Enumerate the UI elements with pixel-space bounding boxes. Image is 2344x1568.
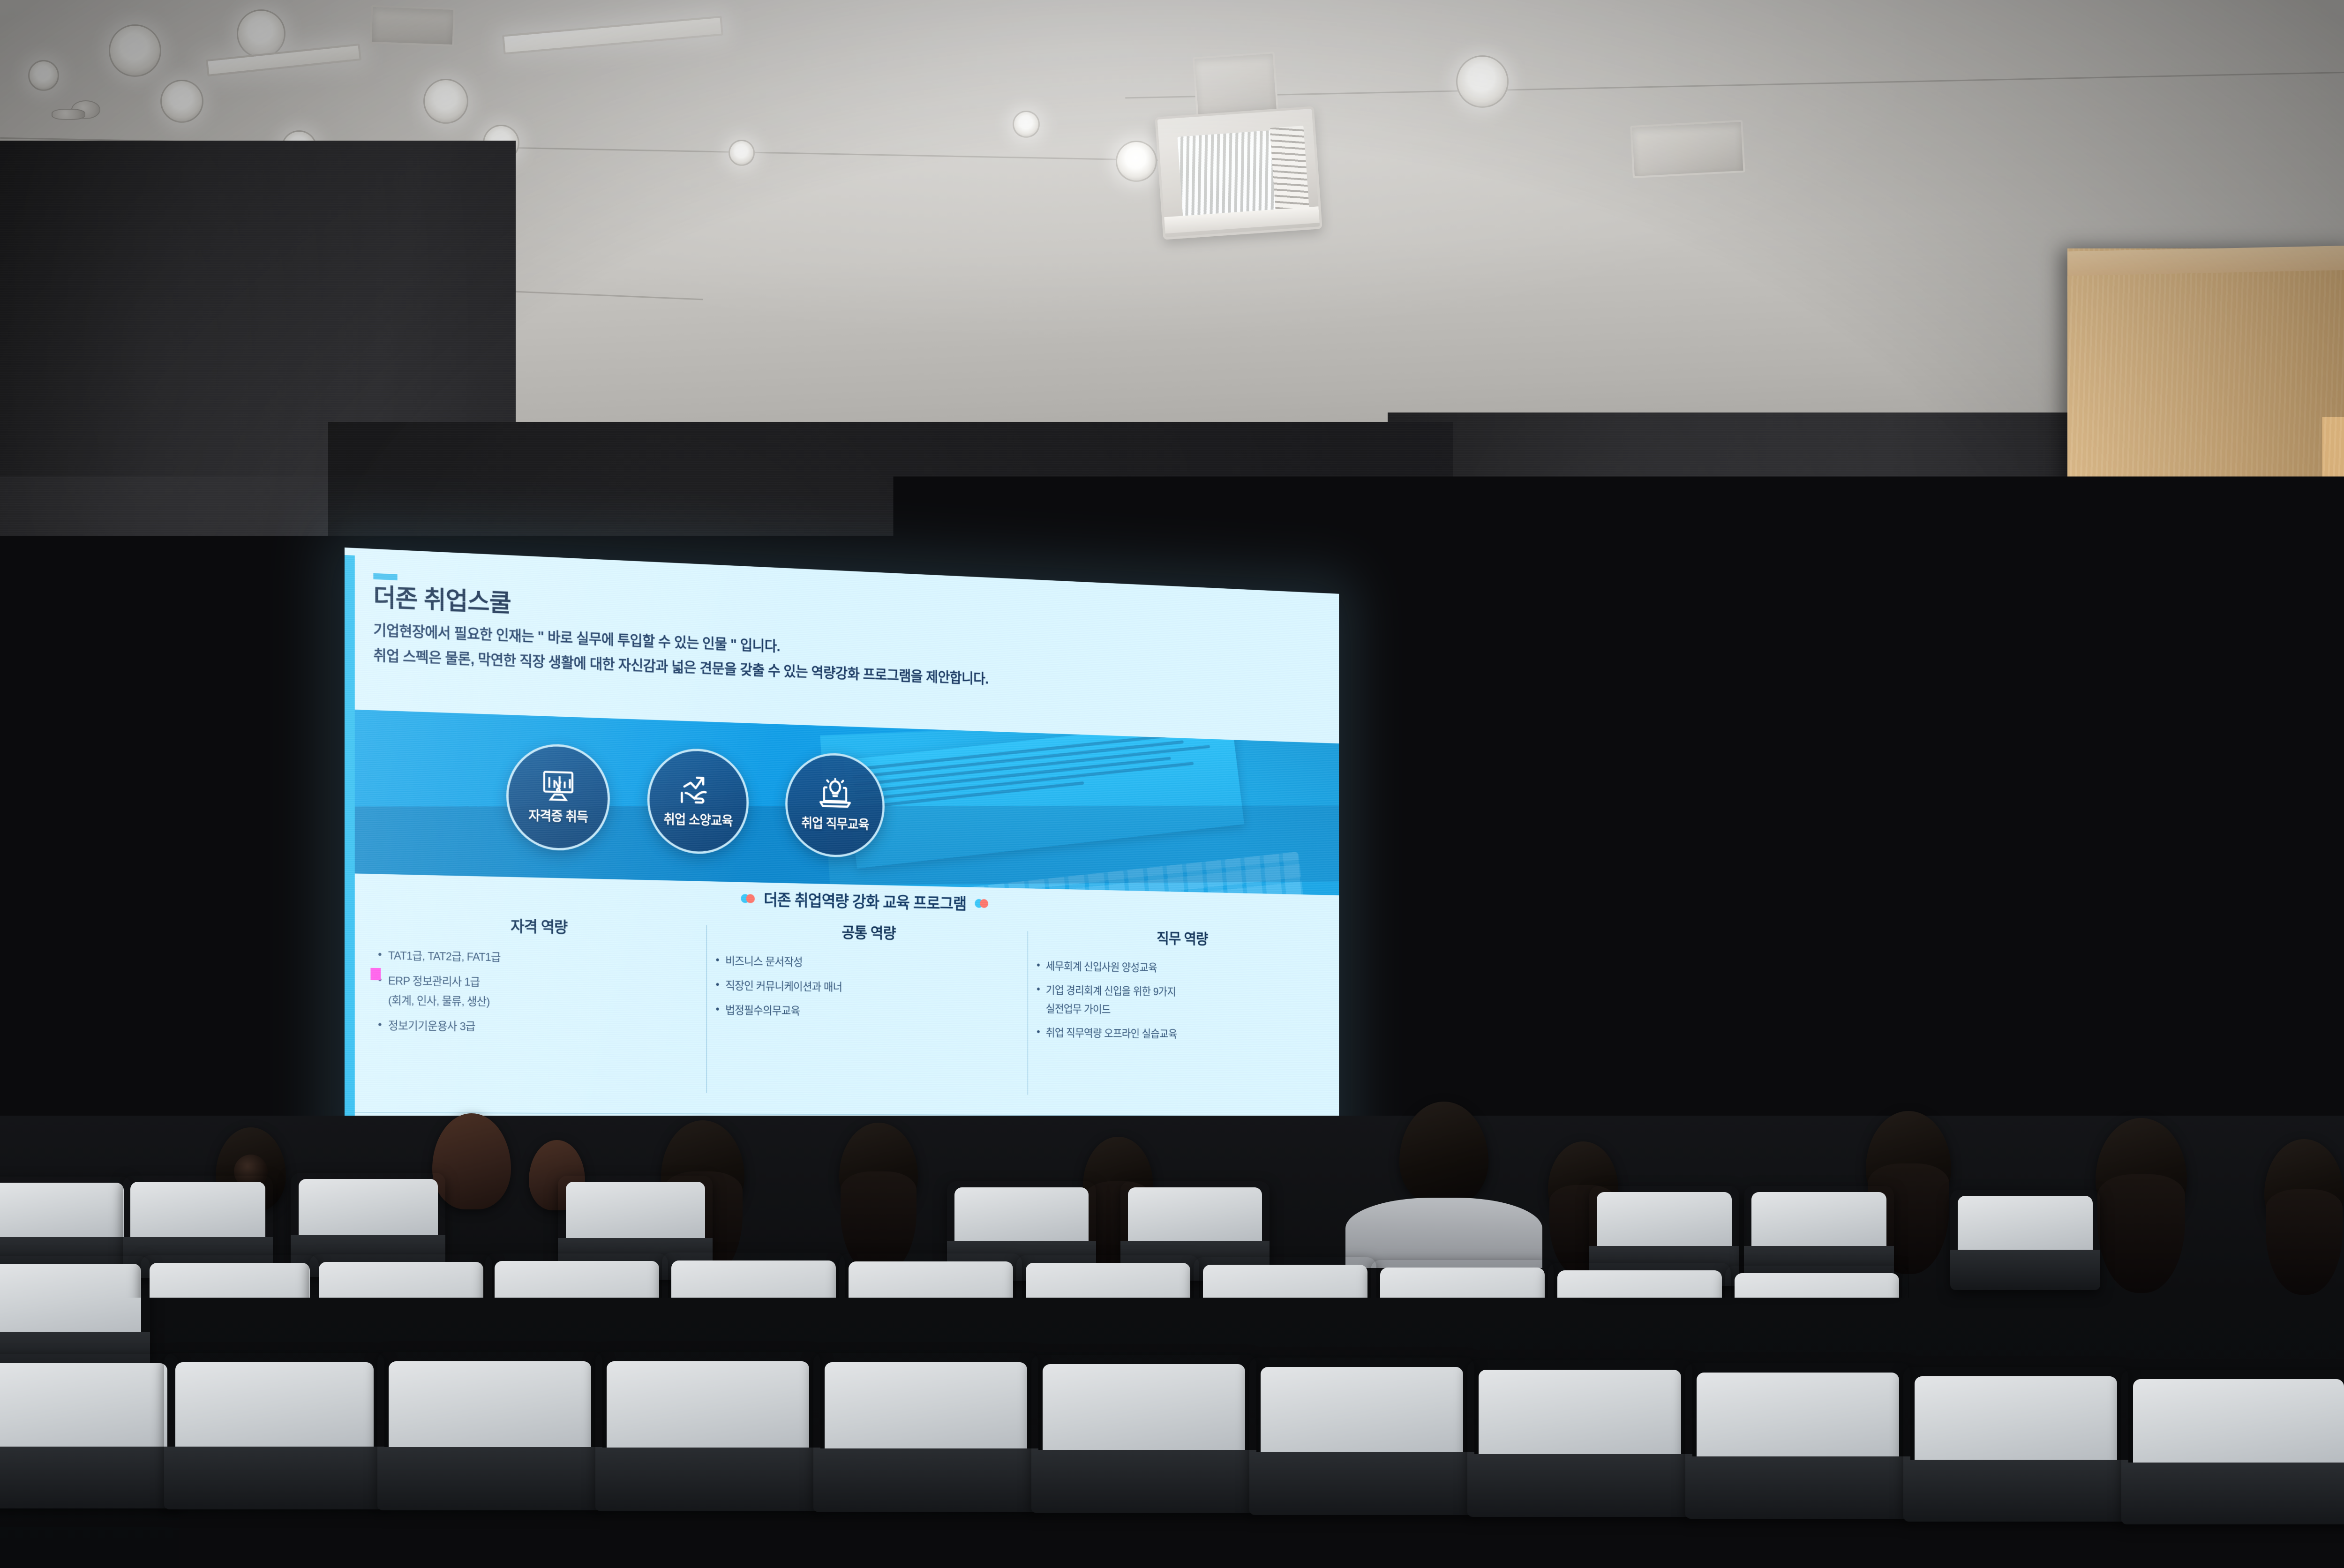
hand-growth-chart-icon bbox=[678, 773, 719, 809]
list-item: ERP 정보관리사 1급 bbox=[376, 973, 698, 993]
seat bbox=[1913, 1487, 2208, 1568]
circle-item-1: 자격증 취득 bbox=[506, 743, 610, 852]
column-qualification: 자격 역량 TAT1급, TAT2급, FAT1급 ERP 정보관리사 1급 (… bbox=[368, 911, 706, 1114]
ceiling-seam bbox=[1125, 72, 2344, 99]
audience-seating-area: 더존 ICT 그룹 소개 DOUZONE ICT GROUP INTRODUCT… bbox=[0, 1116, 2344, 1568]
downlight bbox=[729, 140, 755, 166]
downlight bbox=[423, 79, 468, 124]
presenter bbox=[1777, 792, 1988, 1120]
list-item: 정보기기운용사 3급 bbox=[376, 1018, 698, 1037]
list-item: 비즈니스 문서작성 bbox=[714, 953, 1020, 974]
audience-member-shoulders bbox=[1345, 1198, 1542, 1268]
podium-brand-label: DOUZONE bbox=[1653, 1071, 1759, 1095]
audience-member-head bbox=[2264, 1139, 2344, 1235]
list-item: 직장인 커뮤니케이션과 매너 bbox=[714, 978, 1020, 998]
column-common: 공통 역량 비즈니스 문서작성 직장인 커뮤니케이션과 매너 법정필수의무교육 bbox=[706, 918, 1028, 1115]
downlight bbox=[160, 80, 203, 123]
seat bbox=[1627, 1484, 1922, 1568]
downlight bbox=[28, 60, 59, 91]
downlight bbox=[1013, 111, 1040, 138]
title-tick-mark bbox=[373, 573, 397, 580]
ceiling-vent bbox=[370, 5, 456, 46]
program-dots-right-icon bbox=[975, 899, 988, 908]
slide-blue-band: 자격증 취득 취업 소양교육 bbox=[355, 710, 1339, 895]
presenter-arm bbox=[1781, 970, 1859, 1036]
ac-grille bbox=[1177, 130, 1278, 217]
downlight bbox=[109, 24, 161, 77]
column-heading: 직무 역량 bbox=[1035, 924, 1326, 951]
circle-label: 자격증 취득 bbox=[528, 806, 588, 826]
list-item-continuation: 실전업무 가이드 bbox=[1035, 1002, 1326, 1020]
presenter-glasses bbox=[1832, 827, 1875, 841]
seat bbox=[483, 1478, 778, 1568]
column-list: 세무회계 신입사원 양성교육 기업 경리회계 신입을 위한 9가지 실전업무 가… bbox=[1035, 959, 1326, 1043]
wood-wall-panel bbox=[2067, 248, 2344, 1195]
column-heading: 자격 역량 bbox=[376, 911, 698, 939]
downlight bbox=[1116, 141, 1157, 182]
program-heading: 더존 취업역량 강화 교육 프로그램 bbox=[764, 887, 966, 915]
seat bbox=[202, 1477, 492, 1568]
presentation-slide: 더존 취업스쿨 기업현장에서 필요한 인재는 " 바로 실무에 투입할 수 있는… bbox=[345, 548, 1339, 1158]
list-item-continuation: (회계, 인사, 물류, 생산) bbox=[376, 993, 698, 1013]
downlight bbox=[237, 9, 285, 58]
audience-member-head bbox=[839, 1123, 918, 1216]
list-item: 세무회계 신입사원 양성교육 bbox=[1035, 959, 1326, 978]
competency-columns: 자격 역량 TAT1급, TAT2급, FAT1급 ERP 정보관리사 1급 (… bbox=[368, 911, 1334, 1117]
slide-left-accent-bar bbox=[345, 555, 355, 1118]
audience-member-head bbox=[1399, 1102, 1488, 1206]
circle-item-2: 취업 소양교육 bbox=[647, 747, 749, 855]
ceiling-ac-unit bbox=[1155, 106, 1322, 240]
list-item: TAT1급, TAT2급, FAT1급 bbox=[376, 948, 698, 969]
column-heading: 공통 역량 bbox=[714, 918, 1020, 945]
program-dots-left-icon bbox=[741, 893, 755, 903]
circle-label: 취업 직무교육 bbox=[801, 813, 869, 833]
ceiling-vent bbox=[1630, 120, 1745, 178]
list-item: 취업 직무역량 오프라인 실습교육 bbox=[1035, 1026, 1326, 1044]
seat bbox=[1341, 1481, 1636, 1568]
projection-screen: 더존 취업스쿨 기업현장에서 필요한 인재는 " 바로 실무에 투입할 수 있는… bbox=[345, 548, 1339, 1158]
column-job: 직무 역량 세무회계 신입사원 양성교육 기업 경리회계 신입을 위한 9가지 … bbox=[1028, 924, 1334, 1117]
circle-item-3: 취업 직무교육 bbox=[785, 751, 885, 858]
downlight bbox=[1456, 55, 1509, 108]
audience-member-head bbox=[2096, 1118, 2187, 1226]
column-list: TAT1급, TAT2급, FAT1급 ERP 정보관리사 1급 (회계, 인사… bbox=[376, 948, 698, 1037]
seat bbox=[0, 1472, 216, 1568]
smoke-detector-icon bbox=[52, 109, 85, 120]
seat bbox=[1055, 1478, 1350, 1568]
presenter-hair-side bbox=[1873, 813, 1910, 878]
linear-ceiling-light bbox=[502, 16, 723, 55]
seat bbox=[769, 1477, 1064, 1568]
column-list: 비즈니스 문서작성 직장인 커뮤니케이션과 매너 법정필수의무교육 bbox=[714, 953, 1020, 1022]
pink-highlight-marker bbox=[370, 968, 381, 980]
ac-vent-louvers bbox=[1270, 126, 1309, 213]
linear-ceiling-light bbox=[206, 44, 361, 76]
ceiling-vent bbox=[1193, 52, 1279, 118]
laptop-lightbulb-icon bbox=[815, 778, 855, 812]
monitor-certificate-icon bbox=[538, 769, 579, 804]
auditorium-scene: 더존 취업스쿨 기업현장에서 필요한 인재는 " 바로 실무에 투입할 수 있는… bbox=[0, 0, 2344, 1568]
list-item: 기업 경리회계 신입을 위한 9가지 bbox=[1035, 983, 1326, 1002]
seat bbox=[2199, 1489, 2344, 1568]
circle-label: 취업 소양교육 bbox=[663, 810, 732, 830]
slide-circle-group: 자격증 취득 취업 소양교육 bbox=[355, 710, 1339, 895]
list-item: 법정필수의무교육 bbox=[714, 1003, 1020, 1022]
